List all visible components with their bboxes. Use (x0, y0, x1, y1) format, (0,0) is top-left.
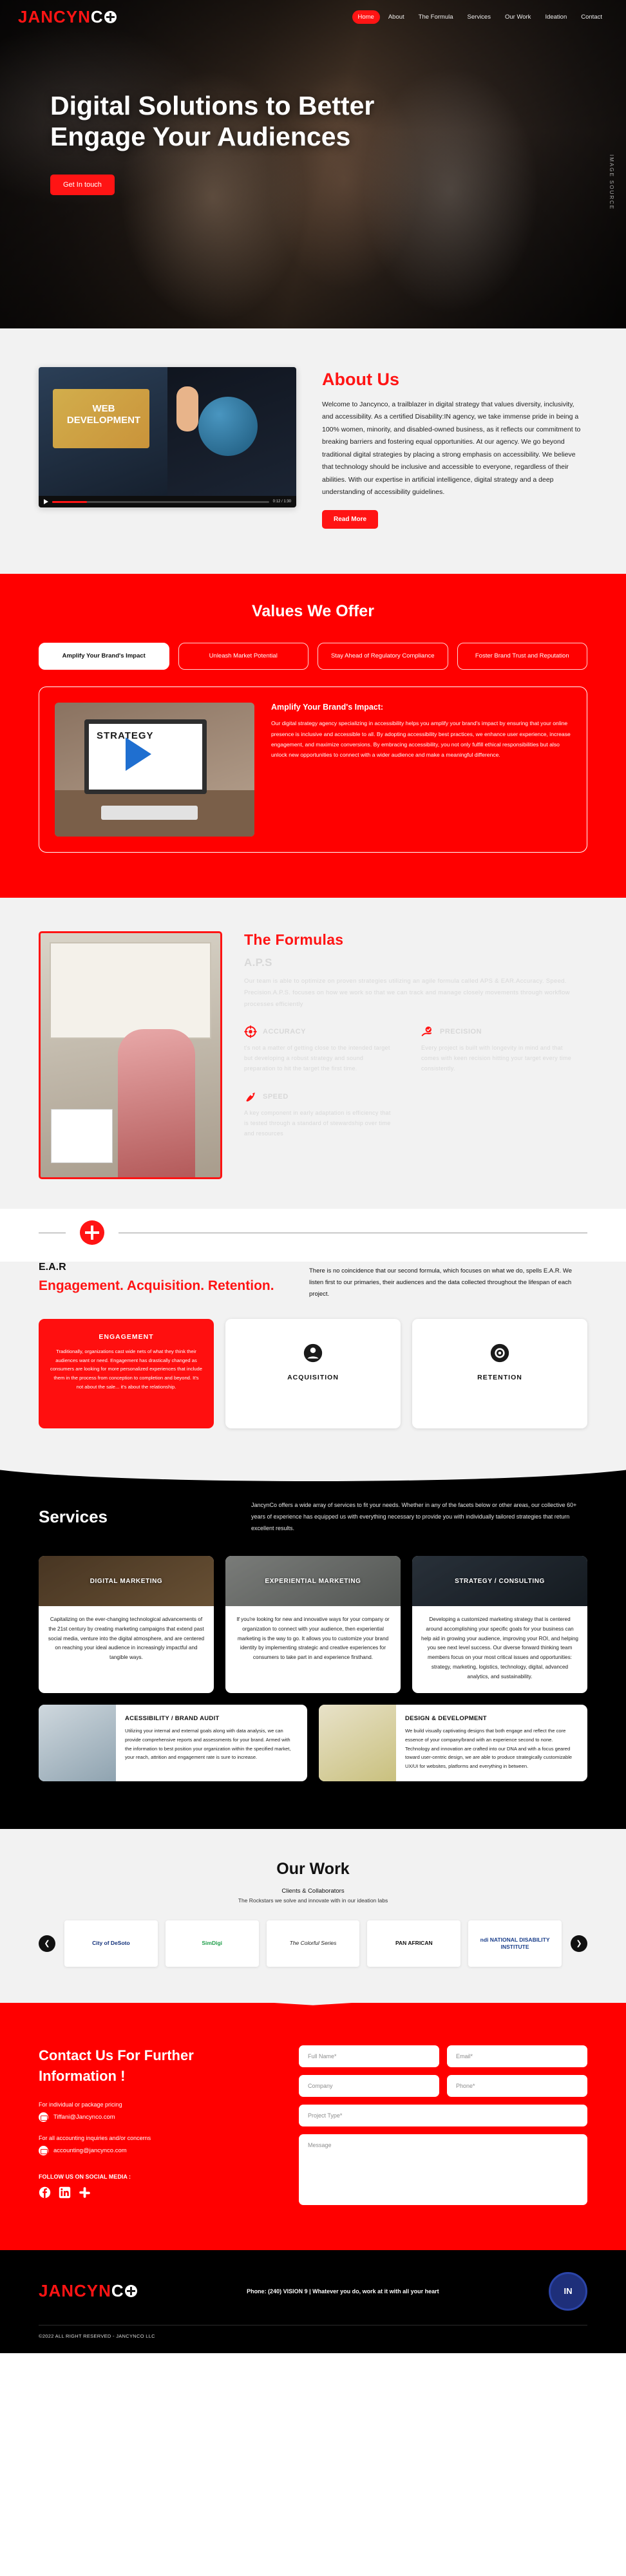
pricing-email-row[interactable]: Tiffani@Jancynco.com (39, 2112, 270, 2122)
our-work-heading: Our Work (39, 1860, 587, 1879)
formulas-copy: The Formulas A.P.S Our team is able to o… (244, 931, 587, 1139)
rocket-icon (244, 1090, 257, 1103)
services-section: Services JancynCo offers a wide array of… (0, 1464, 626, 1829)
video-controls[interactable]: 0:12 / 1:30 (39, 496, 296, 507)
ear-kicker: E.A.R (39, 1262, 283, 1273)
hero-title: Digital Solutions to Better Engage Your … (50, 90, 399, 153)
aps-item-speed: SPEED A key component in early adaptatio… (244, 1090, 395, 1139)
service-card-digital-marketing[interactable]: DIGITAL MARKETING Capitalizing on the ev… (39, 1556, 214, 1693)
ear-card-title: ACQUISITION (237, 1374, 389, 1381)
hand-check-icon (421, 1025, 434, 1038)
nav-links: Home About The Formula Services Our Work… (352, 10, 609, 24)
message-textarea[interactable] (299, 2134, 587, 2205)
about-heading: About Us (322, 370, 587, 390)
about-section: 0:12 / 1:30 About Us Welcome to Jancynco… (0, 328, 626, 574)
values-panel-title: Amplify Your Brand's Impact: (271, 703, 571, 712)
values-tab-unleash[interactable]: Unleash Market Potential (178, 643, 309, 670)
service-card-accessibility-brand-audit[interactable]: ACESSIBILITY / BRAND AUDIT Utilizing you… (39, 1705, 307, 1781)
service-image (319, 1705, 396, 1781)
company-input[interactable] (299, 2075, 439, 2097)
chevron-left-icon[interactable]: ❮ (39, 1935, 55, 1952)
service-card-experiential-marketing[interactable]: EXPERIENTIAL MARKETING If you're looking… (225, 1556, 401, 1693)
nav-item-about[interactable]: About (383, 10, 410, 24)
values-section: Values We Offer Amplify Your Brand's Imp… (0, 574, 626, 898)
client-logo[interactable]: PAN AFRICAN (367, 1920, 460, 1967)
service-card-body: We build visually captivating designs th… (405, 1727, 577, 1770)
values-panel: Amplify Your Brand's Impact: Our digital… (39, 687, 587, 853)
services-row-top: DIGITAL MARKETING Capitalizing on the ev… (39, 1556, 587, 1693)
our-work-subtitle: Clients & Collaborators (39, 1888, 587, 1895)
video-timestamp: 0:12 / 1:30 (273, 500, 291, 504)
plus-circle-icon (125, 2285, 137, 2297)
facebook-icon[interactable] (39, 2186, 51, 2199)
services-row-bottom: ACESSIBILITY / BRAND AUDIT Utilizing you… (39, 1705, 587, 1781)
our-work-section: Our Work Clients & Collaborators The Roc… (0, 1829, 626, 2003)
full-name-input[interactable] (299, 2045, 439, 2067)
nav-item-home[interactable]: Home (352, 10, 380, 24)
values-tab-amplify[interactable]: Amplify Your Brand's Impact (39, 643, 169, 670)
service-card-design-development[interactable]: DESIGN & DEVELOPMENT We build visually c… (319, 1705, 587, 1781)
get-in-touch-button[interactable]: Get In touch (50, 175, 115, 195)
envelope-icon (39, 2112, 48, 2122)
aps-item-body: A key component in early adaptation is e… (244, 1108, 395, 1139)
nav-item-services[interactable]: Services (462, 10, 497, 24)
linkedin-icon[interactable] (59, 2186, 71, 2199)
pricing-email[interactable]: Tiffani@Jancynco.com (53, 2114, 115, 2121)
plus-circle-icon (80, 1220, 104, 1245)
footer-tagline: Phone: (240) VISION 9 | Whatever you do,… (150, 2288, 536, 2295)
values-panel-body: Our digital strategy agency specializing… (271, 718, 571, 760)
video-panel-right (167, 367, 296, 496)
target-icon (244, 1025, 257, 1038)
aps-item-body: Every project is built with longevity in… (421, 1043, 573, 1074)
service-card-title: DESIGN & DEVELOPMENT (405, 1715, 577, 1722)
client-logo[interactable]: The Colorful Series (267, 1920, 360, 1967)
pricing-label: For individual or package pricing (39, 2101, 270, 2108)
clients-carousel: ❮ City of DeSoto SimDigi The Colorful Se… (39, 1920, 587, 1967)
site-logo[interactable]: JANCYNC (18, 7, 117, 27)
client-logos: City of DeSoto SimDigi The Colorful Seri… (64, 1920, 562, 1967)
contact-heading: Contact Us For Further Information ! (39, 2045, 270, 2087)
video-panel-left (39, 367, 167, 496)
aps-item-precision: PRECISION Every project is built with lo… (421, 1025, 573, 1074)
ear-card-title: ENGAGEMENT (50, 1333, 202, 1341)
accounting-label: For all accounting inquiries and/or conc… (39, 2135, 270, 2141)
hero-section: JANCYNC Home About The Formula Services … (0, 0, 626, 328)
service-card-body: If you're looking for new and innovative… (225, 1606, 401, 1674)
aps-title: A.P.S (244, 956, 587, 969)
nav-item-the-formula[interactable]: The Formula (413, 10, 459, 24)
footer-copyright: ©2022 ALL RIGHT RESERVED - JANCYNCO LLC (39, 2333, 587, 2339)
about-video-frame (39, 367, 296, 496)
about-copy: About Us Welcome to Jancynco, a trailbla… (322, 367, 587, 529)
service-card-body: Developing a customized marketing strate… (412, 1606, 587, 1693)
values-panel-text: Amplify Your Brand's Impact: Our digital… (271, 703, 571, 760)
email-input[interactable] (447, 2045, 587, 2067)
footer-divider (39, 2325, 587, 2325)
video-progress-bar[interactable] (52, 501, 269, 503)
landing-page: JANCYNC Home About The Formula Services … (0, 0, 626, 2353)
aps-item-body: t's not a matter of getting close to the… (244, 1043, 395, 1074)
values-tab-brand-trust[interactable]: Foster Brand Trust and Reputation (457, 643, 588, 670)
services-heading: Services (39, 1507, 219, 1527)
ear-card-engagement[interactable]: ENGAGEMENT Traditionally, organizations … (39, 1319, 214, 1428)
ear-card-body: Traditionally, organizations cast wide n… (50, 1347, 202, 1391)
service-card-body: Capitalizing on the ever-changing techno… (39, 1606, 214, 1674)
footer-logo-white: C (111, 2281, 124, 2301)
ear-card-acquisition[interactable]: ACQUISITION (225, 1319, 401, 1428)
ear-card-retention[interactable]: RETENTION (412, 1319, 587, 1428)
logo-text-red: JANCYN (18, 7, 91, 27)
formulas-section: The Formulas A.P.S Our team is able to o… (0, 898, 626, 1209)
plus-circle-icon (104, 11, 117, 23)
main-navigation: JANCYNC Home About The Formula Services … (0, 0, 626, 33)
accounting-email-row[interactable]: accounting@jancynco.com (39, 2146, 270, 2155)
contact-form[interactable] (299, 2045, 587, 2205)
hero-image-credit: IMAGE SOURCE (609, 155, 614, 210)
aps-items: ACCURACY t's not a matter of getting clo… (244, 1025, 587, 1139)
acquisition-icon (302, 1342, 324, 1364)
envelope-icon (39, 2146, 48, 2155)
follow-label: FOLLOW US ON SOCIAL MEDIA : (39, 2173, 270, 2180)
nav-item-our-work[interactable]: Our Work (499, 10, 536, 24)
nav-item-contact[interactable]: Contact (575, 10, 608, 24)
service-card-title: DIGITAL MARKETING (86, 1578, 167, 1585)
aps-item-title: PRECISION (440, 1028, 482, 1036)
ear-section: E.A.R Engagement. Acquisition. Retention… (0, 1262, 626, 1464)
slack-icon[interactable] (79, 2186, 91, 2199)
service-card-title: ACESSIBILITY / BRAND AUDIT (125, 1715, 297, 1722)
ear-headline: Engagement. Acquisition. Retention. (39, 1277, 283, 1295)
service-card-title: STRATEGY / CONSULTING (451, 1578, 549, 1585)
formulas-heading: The Formulas (244, 931, 587, 949)
phone-input[interactable] (447, 2075, 587, 2097)
aps-lead: Our team is able to optimize on proven s… (244, 976, 585, 1010)
aps-item-title: ACCURACY (263, 1028, 306, 1036)
disability-in-badge: IN (549, 2272, 587, 2311)
aps-item-title: SPEED (263, 1093, 289, 1101)
values-tabs: Amplify Your Brand's Impact Unleash Mark… (39, 643, 587, 670)
play-icon[interactable] (44, 499, 48, 504)
section-divider (0, 1220, 626, 1245)
nav-item-ideation[interactable]: Ideation (539, 10, 573, 24)
values-tab-regulatory[interactable]: Stay Ahead of Regulatory Compliance (318, 643, 448, 670)
footer-logo[interactable]: JANCYNC (39, 2281, 137, 2301)
ear-card-title: RETENTION (424, 1374, 576, 1381)
client-logo[interactable]: ndi NATIONAL DISABILITY INSTITUTE (468, 1920, 562, 1967)
retention-icon (489, 1342, 511, 1364)
service-card-strategy-consulting[interactable]: STRATEGY / CONSULTING Developing a custo… (412, 1556, 587, 1693)
chevron-right-icon[interactable]: ❯ (571, 1935, 587, 1952)
ear-cards: ENGAGEMENT Traditionally, organizations … (39, 1319, 587, 1428)
values-heading: Values We Offer (39, 602, 587, 621)
our-work-description: The Rockstars we solve and innovate with… (39, 1897, 587, 1904)
logo-text-white: C (91, 7, 104, 27)
project-type-input[interactable] (299, 2105, 587, 2126)
read-more-button[interactable]: Read More (322, 510, 378, 529)
site-footer: JANCYNC Phone: (240) VISION 9 | Whatever… (0, 2250, 626, 2353)
hero-copy: Digital Solutions to Better Engage Your … (0, 33, 399, 195)
service-image (39, 1705, 116, 1781)
footer-logo-red: JANCYN (39, 2281, 111, 2301)
formulas-photo (39, 931, 222, 1179)
values-illustration (55, 703, 254, 837)
service-card-title: EXPERIENTIAL MARKETING (261, 1578, 365, 1585)
chart-arrow-icon (126, 737, 151, 771)
services-intro: JancynCo offers a wide array of services… (251, 1499, 587, 1534)
client-logo[interactable]: SimDigi (166, 1920, 259, 1967)
client-logo[interactable]: City of DeSoto (64, 1920, 158, 1967)
about-video-player[interactable]: 0:12 / 1:30 (39, 367, 296, 507)
ear-lead: There is no coincidence that our second … (309, 1262, 587, 1300)
about-body: Welcome to Jancynco, a trailblazer in di… (322, 399, 587, 498)
social-links (39, 2186, 270, 2199)
service-card-body: Utilizing your internal and external goa… (125, 1727, 297, 1762)
aps-item-accuracy: ACCURACY t's not a matter of getting clo… (244, 1025, 395, 1074)
accounting-email[interactable]: accounting@jancynco.com (53, 2147, 127, 2154)
contact-section: Contact Us For Further Information ! For… (0, 2003, 626, 2250)
contact-info: Contact Us For Further Information ! For… (39, 2045, 270, 2205)
